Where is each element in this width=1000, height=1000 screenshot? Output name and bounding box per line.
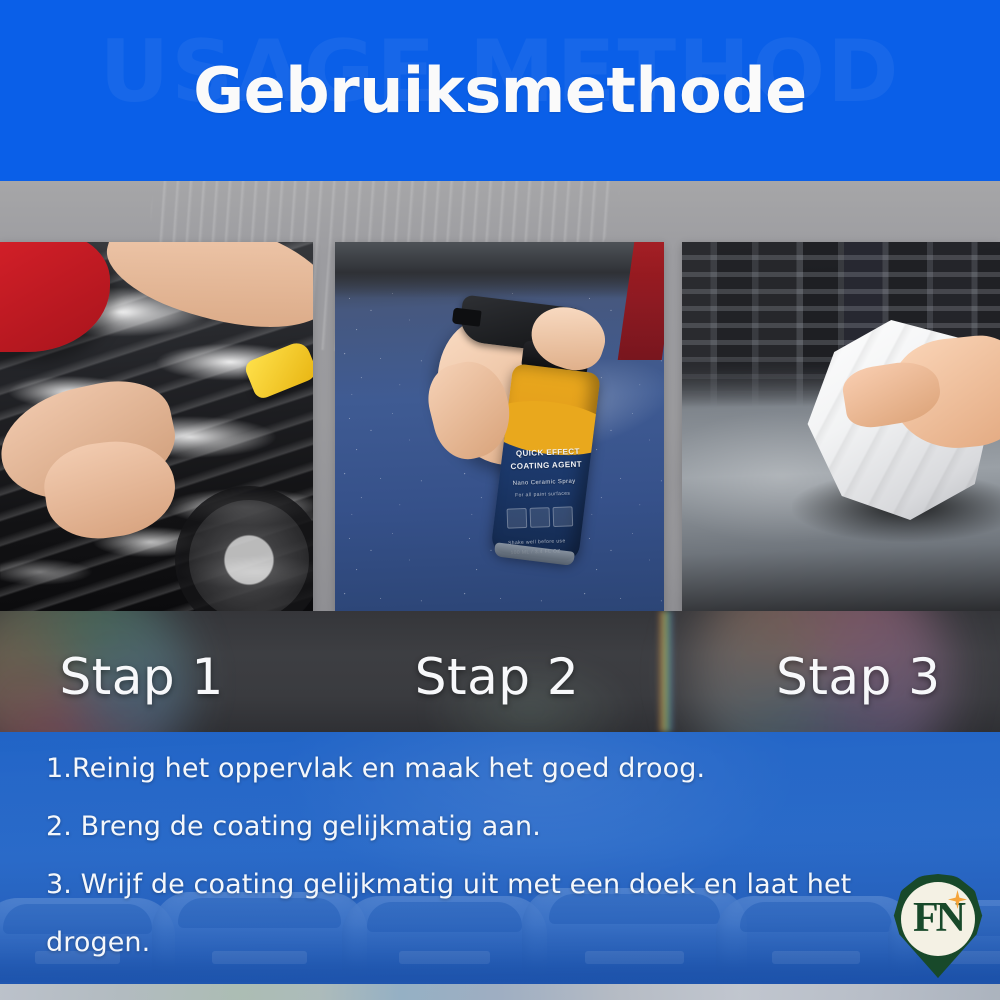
step-label-2: Stap 2 xyxy=(355,611,664,732)
floor-strip xyxy=(0,984,1000,1000)
instruction-line-2: 2. Breng de coating gelijkmatig aan. xyxy=(46,798,946,856)
instruction-line-3: 3. Wrijf de coating gelijkmatig uit met … xyxy=(46,856,926,972)
logo-face: FN xyxy=(901,882,975,956)
step-1-artwork xyxy=(0,242,313,612)
page-title: Gebruiksmethode xyxy=(0,53,1000,129)
step-3-image xyxy=(682,242,1000,612)
instructions-section: 1.Reinig het oppervlak en maak het goed … xyxy=(0,732,1000,1000)
step-labels-row: Stap 1 Stap 2 Stap 3 xyxy=(0,611,1000,732)
step-image-panels: QUICK EFFECT COATING AGENT Nano Ceramic … xyxy=(0,242,1000,612)
bottle-body: QUICK EFFECT COATING AGENT Nano Ceramic … xyxy=(490,363,600,562)
bottle-label-line4: For all paint surfaces xyxy=(504,490,582,499)
badge-2 xyxy=(530,507,551,528)
step-labels-band: Stap 1 Stap 2 Stap 3 xyxy=(0,611,1000,732)
bottle-feature-badges xyxy=(507,506,574,528)
step-3-artwork xyxy=(682,242,1000,612)
step-label-1: Stap 1 xyxy=(0,611,355,732)
brand-logo: FN xyxy=(892,874,984,978)
step-2-image: QUICK EFFECT COATING AGENT Nano Ceramic … xyxy=(335,242,664,612)
windshield-shadow xyxy=(335,242,664,298)
step-label-3: Stap 3 xyxy=(665,611,1000,732)
badge-1 xyxy=(507,508,528,529)
instruction-line-1: 1.Reinig het oppervlak en maak het goed … xyxy=(46,740,946,798)
spray-nozzle xyxy=(452,307,482,326)
logo-initials: FN xyxy=(913,897,963,939)
bottle-label-line3: Nano Ceramic Spray xyxy=(505,478,583,487)
step-1-image xyxy=(0,242,313,612)
bottle-label-line2: COATING AGENT xyxy=(507,460,585,472)
bottle-label-line1: QUICK EFFECT xyxy=(509,447,587,459)
badge-3 xyxy=(553,506,574,527)
step-2-artwork: QUICK EFFECT COATING AGENT Nano Ceramic … xyxy=(335,242,664,612)
instruction-list: 1.Reinig het oppervlak en maak het goed … xyxy=(46,740,946,972)
header-banner: USAGE METHOD Gebruiksmethode xyxy=(0,0,1000,181)
usage-method-poster: USAGE METHOD Gebruiksmethode xyxy=(0,0,1000,1000)
